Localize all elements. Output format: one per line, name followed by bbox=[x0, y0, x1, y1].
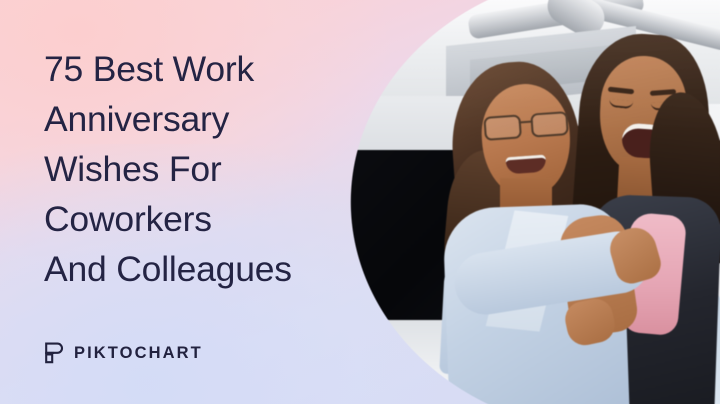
hero-photo bbox=[350, 0, 720, 404]
headline-line-4: Coworkers bbox=[44, 194, 374, 244]
headline-line-2: Anniversary bbox=[44, 94, 374, 144]
piktochart-logo[interactable]: PIKTOCHART bbox=[44, 342, 203, 364]
page-title: 75 Best Work Anniversary Wishes For Cowo… bbox=[44, 44, 374, 294]
eyeglasses-icon bbox=[483, 111, 568, 138]
article-banner: 75 Best Work Anniversary Wishes For Cowo… bbox=[0, 0, 720, 404]
piktochart-p-mark-icon bbox=[44, 342, 65, 364]
headline-line-5: And Colleagues bbox=[44, 244, 374, 294]
headline-block: 75 Best Work Anniversary Wishes For Cowo… bbox=[44, 44, 374, 294]
headline-line-3: Wishes For bbox=[44, 144, 374, 194]
headline-line-1: 75 Best Work bbox=[44, 44, 374, 94]
hero-photo-image bbox=[350, 0, 720, 404]
piktochart-wordmark: PIKTOCHART bbox=[74, 345, 203, 362]
